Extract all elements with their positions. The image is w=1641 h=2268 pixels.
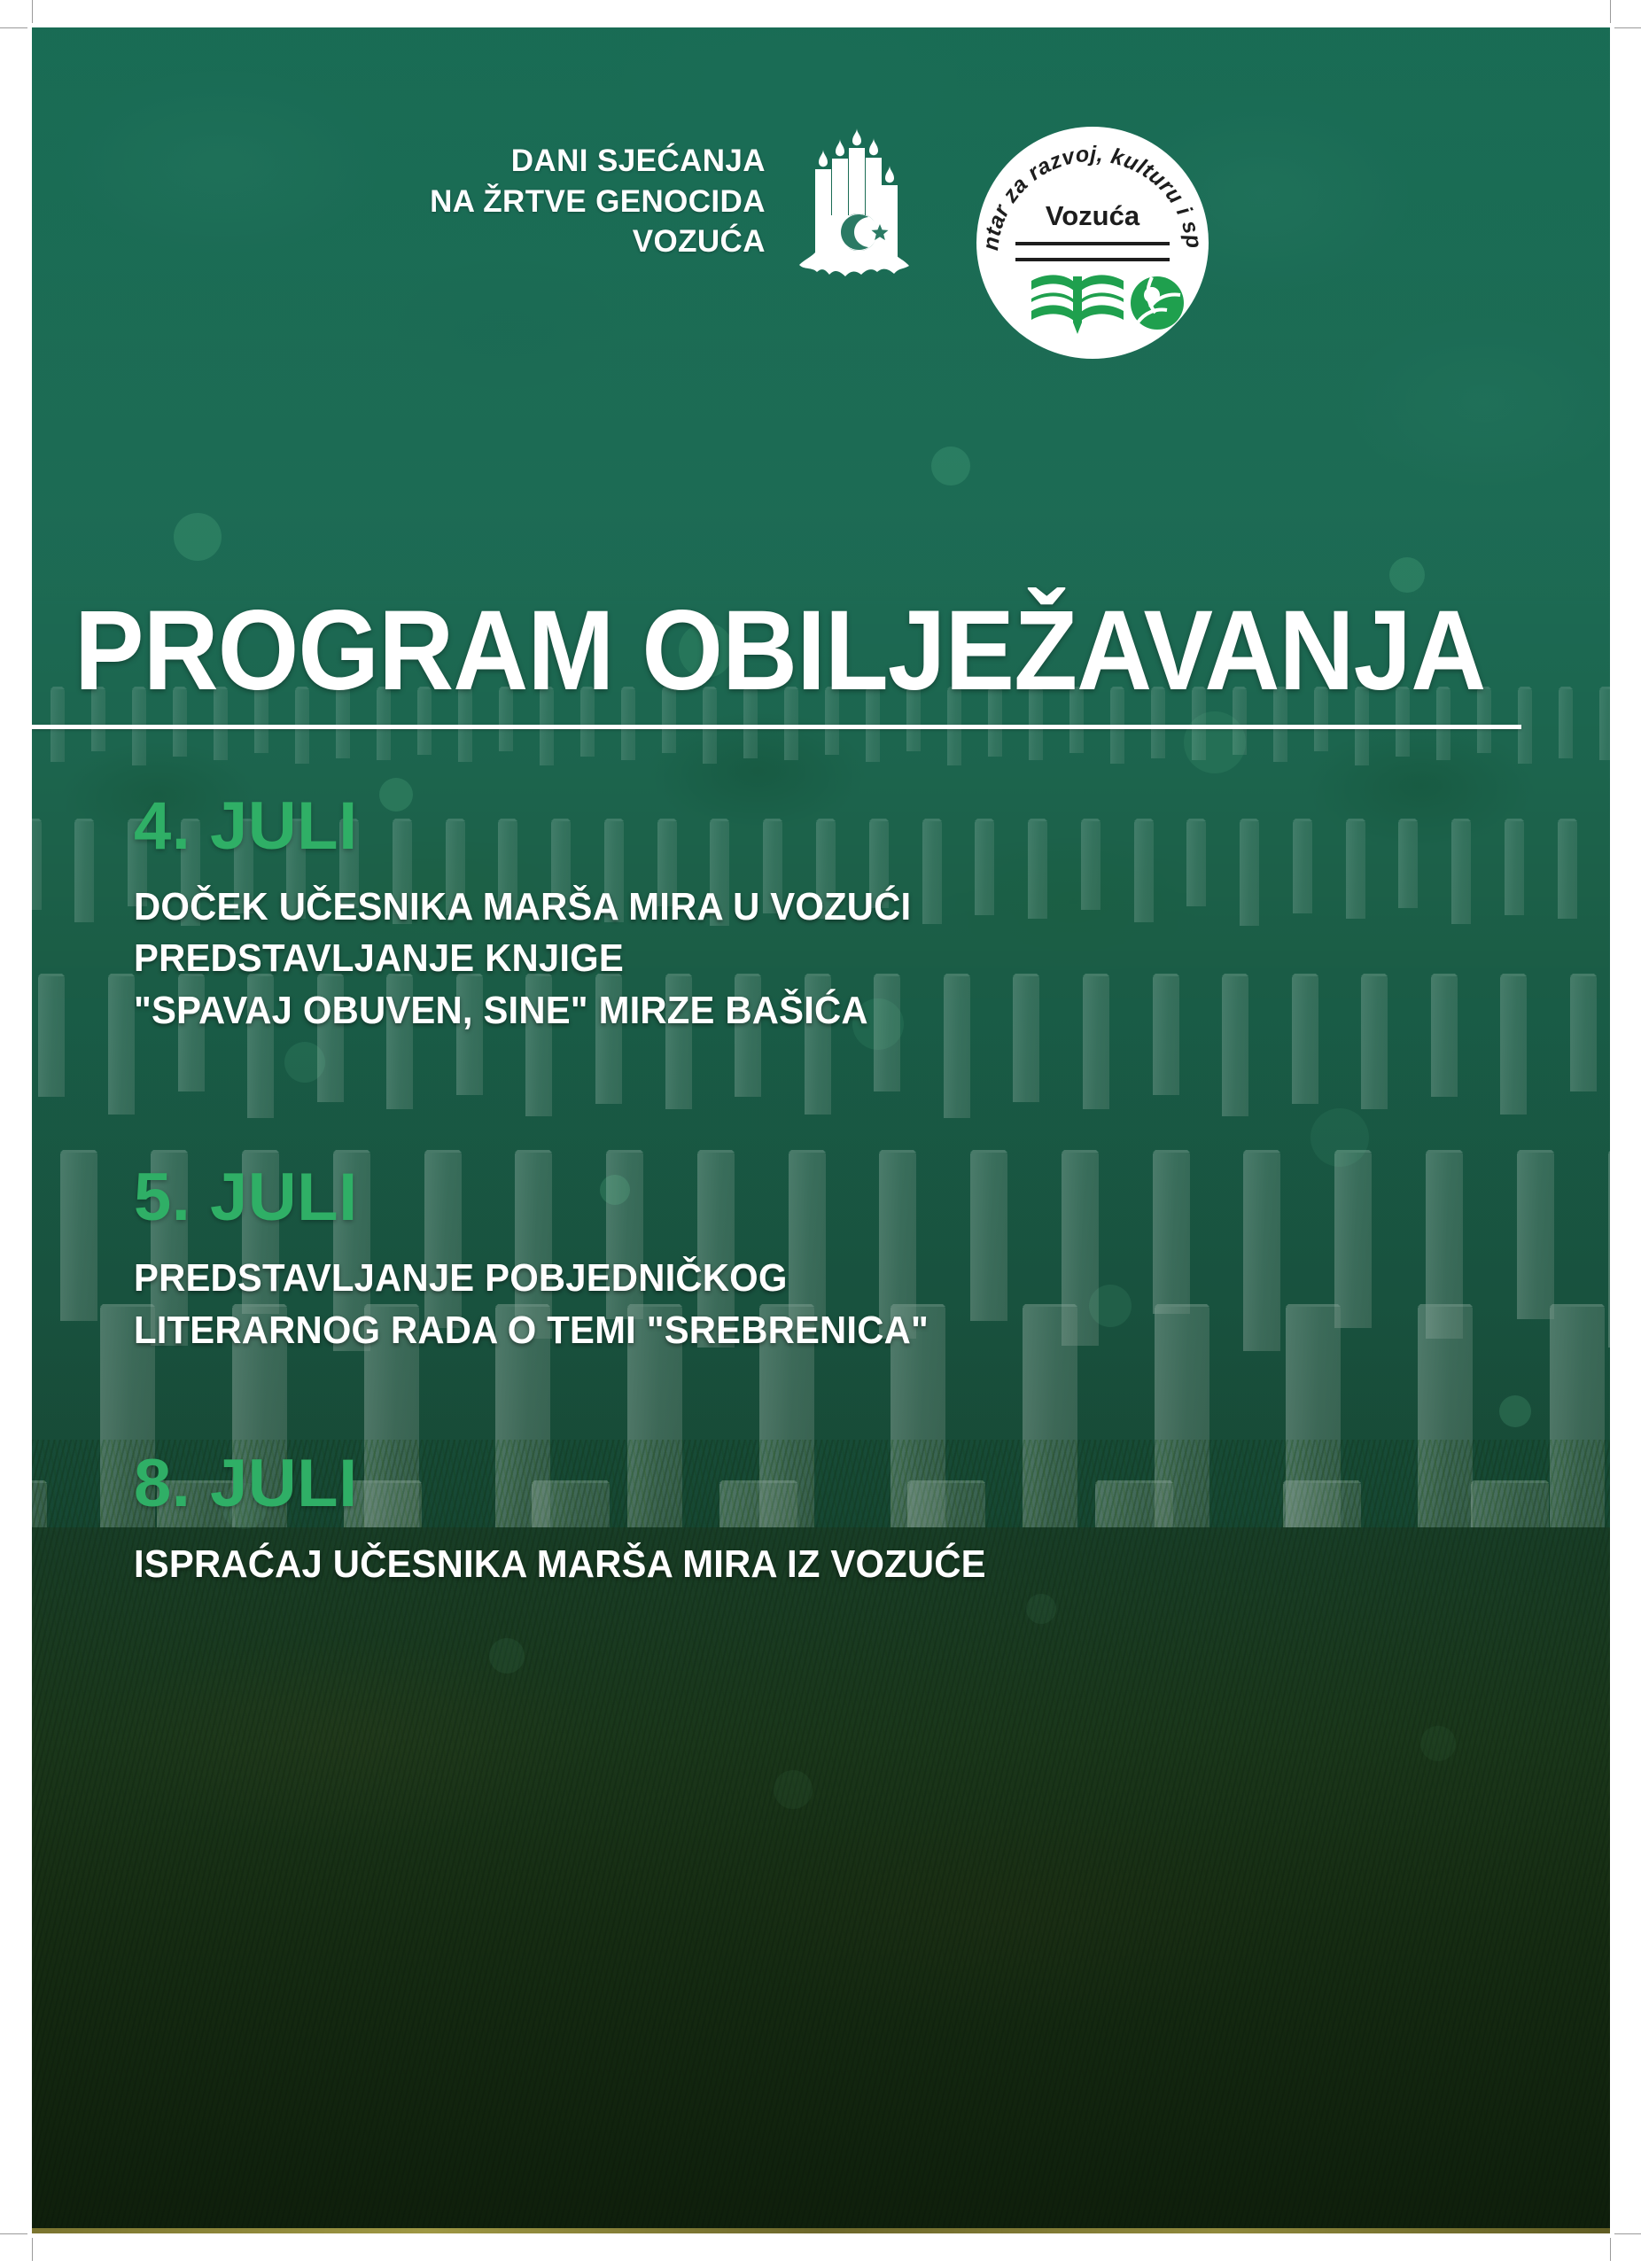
crop-mark-top-left-v — [32, 0, 33, 23]
entry-date: 8. JULI — [134, 1449, 1516, 1519]
org-logo: Centar za razvoj, kulturu i sport Vozuća — [973, 123, 1212, 362]
entry-date: 4. JULI — [134, 791, 1516, 862]
program-entry: 5. JULI PREDSTAVLJANJE POBJEDNIČKOG LITE… — [134, 1162, 1516, 1356]
crop-mark-bottom-right-v — [1610, 2238, 1611, 2261]
entry-description: ISPRAĆAJ UČESNIKA MARŠA MIRA IZ VOZUĆE — [134, 1539, 1516, 1591]
entry-spacer — [134, 1077, 1516, 1162]
crop-mark-bottom-left-v — [32, 2238, 33, 2261]
memorial-title-line-3: VOZUĆA — [430, 221, 766, 262]
memorial-title-line-2: NA ŽRTVE GENOCIDA — [430, 182, 766, 222]
entry-description: DOČEK UČESNIKA MARŠA MIRA U VOZUĆI PREDS… — [134, 882, 1516, 1037]
logo-center-text: Vozuća — [1046, 200, 1140, 231]
crop-mark-top-right-h — [1614, 27, 1641, 28]
program-entry: 4. JULI DOČEK UČESNIKA MARŠA MIRA U VOZU… — [134, 791, 1516, 1037]
entry-line: PREDSTAVLJANJE KNJIGE — [134, 933, 1447, 985]
logo-divider-line-1 — [1015, 242, 1170, 245]
program-schedule: 4. JULI DOČEK UČESNIKA MARŠA MIRA U VOZU… — [134, 791, 1516, 1631]
poster-artboard: DANI SJEĆANJA NA ŽRTVE GENOCIDA VOZUĆA — [32, 27, 1610, 2233]
page-title: PROGRAM OBILJEŽAVANJA — [74, 594, 1452, 708]
logo-divider-line-2 — [1015, 258, 1170, 261]
candle-memorial-icon — [796, 128, 909, 297]
entry-description: PREDSTAVLJANJE POBJEDNIČKOG LITERARNOG R… — [134, 1253, 1516, 1356]
entry-spacer — [134, 1397, 1516, 1449]
entry-line: PREDSTAVLJANJE POBJEDNIČKOG — [134, 1253, 1447, 1305]
memorial-title-line-1: DANI SJEĆANJA — [430, 141, 766, 182]
title-divider — [32, 725, 1521, 729]
crop-mark-top-left-h — [0, 27, 27, 28]
entry-line: ISPRAĆAJ UČESNIKA MARŠA MIRA IZ VOZUĆE — [134, 1539, 1447, 1591]
print-sheet: DANI SJEĆANJA NA ŽRTVE GENOCIDA VOZUĆA — [0, 0, 1641, 2268]
crop-mark-bottom-left-h — [0, 2233, 27, 2234]
entry-date: 5. JULI — [134, 1162, 1516, 1233]
crop-mark-top-right-v — [1610, 0, 1611, 23]
entry-line: LITERARNOG RADA O TEMI "SREBRENICA" — [134, 1305, 1447, 1357]
entry-line: "SPAVAJ OBUVEN, SINE" MIRZE BAŠIĆA — [134, 985, 1447, 1037]
ball-icon — [1131, 276, 1184, 330]
crop-mark-bottom-right-h — [1614, 2233, 1641, 2234]
poster-content: DANI SJEĆANJA NA ŽRTVE GENOCIDA VOZUĆA — [32, 27, 1610, 2233]
program-entry: 8. JULI ISPRAĆAJ UČESNIKA MARŠA MIRA IZ … — [134, 1449, 1516, 1590]
entry-line: DOČEK UČESNIKA MARŠA MIRA U VOZUĆI — [134, 882, 1447, 934]
memorial-days-title: DANI SJEĆANJA NA ŽRTVE GENOCIDA VOZUĆA — [430, 123, 766, 262]
poster-header: DANI SJEĆANJA NA ŽRTVE GENOCIDA VOZUĆA — [32, 123, 1610, 362]
